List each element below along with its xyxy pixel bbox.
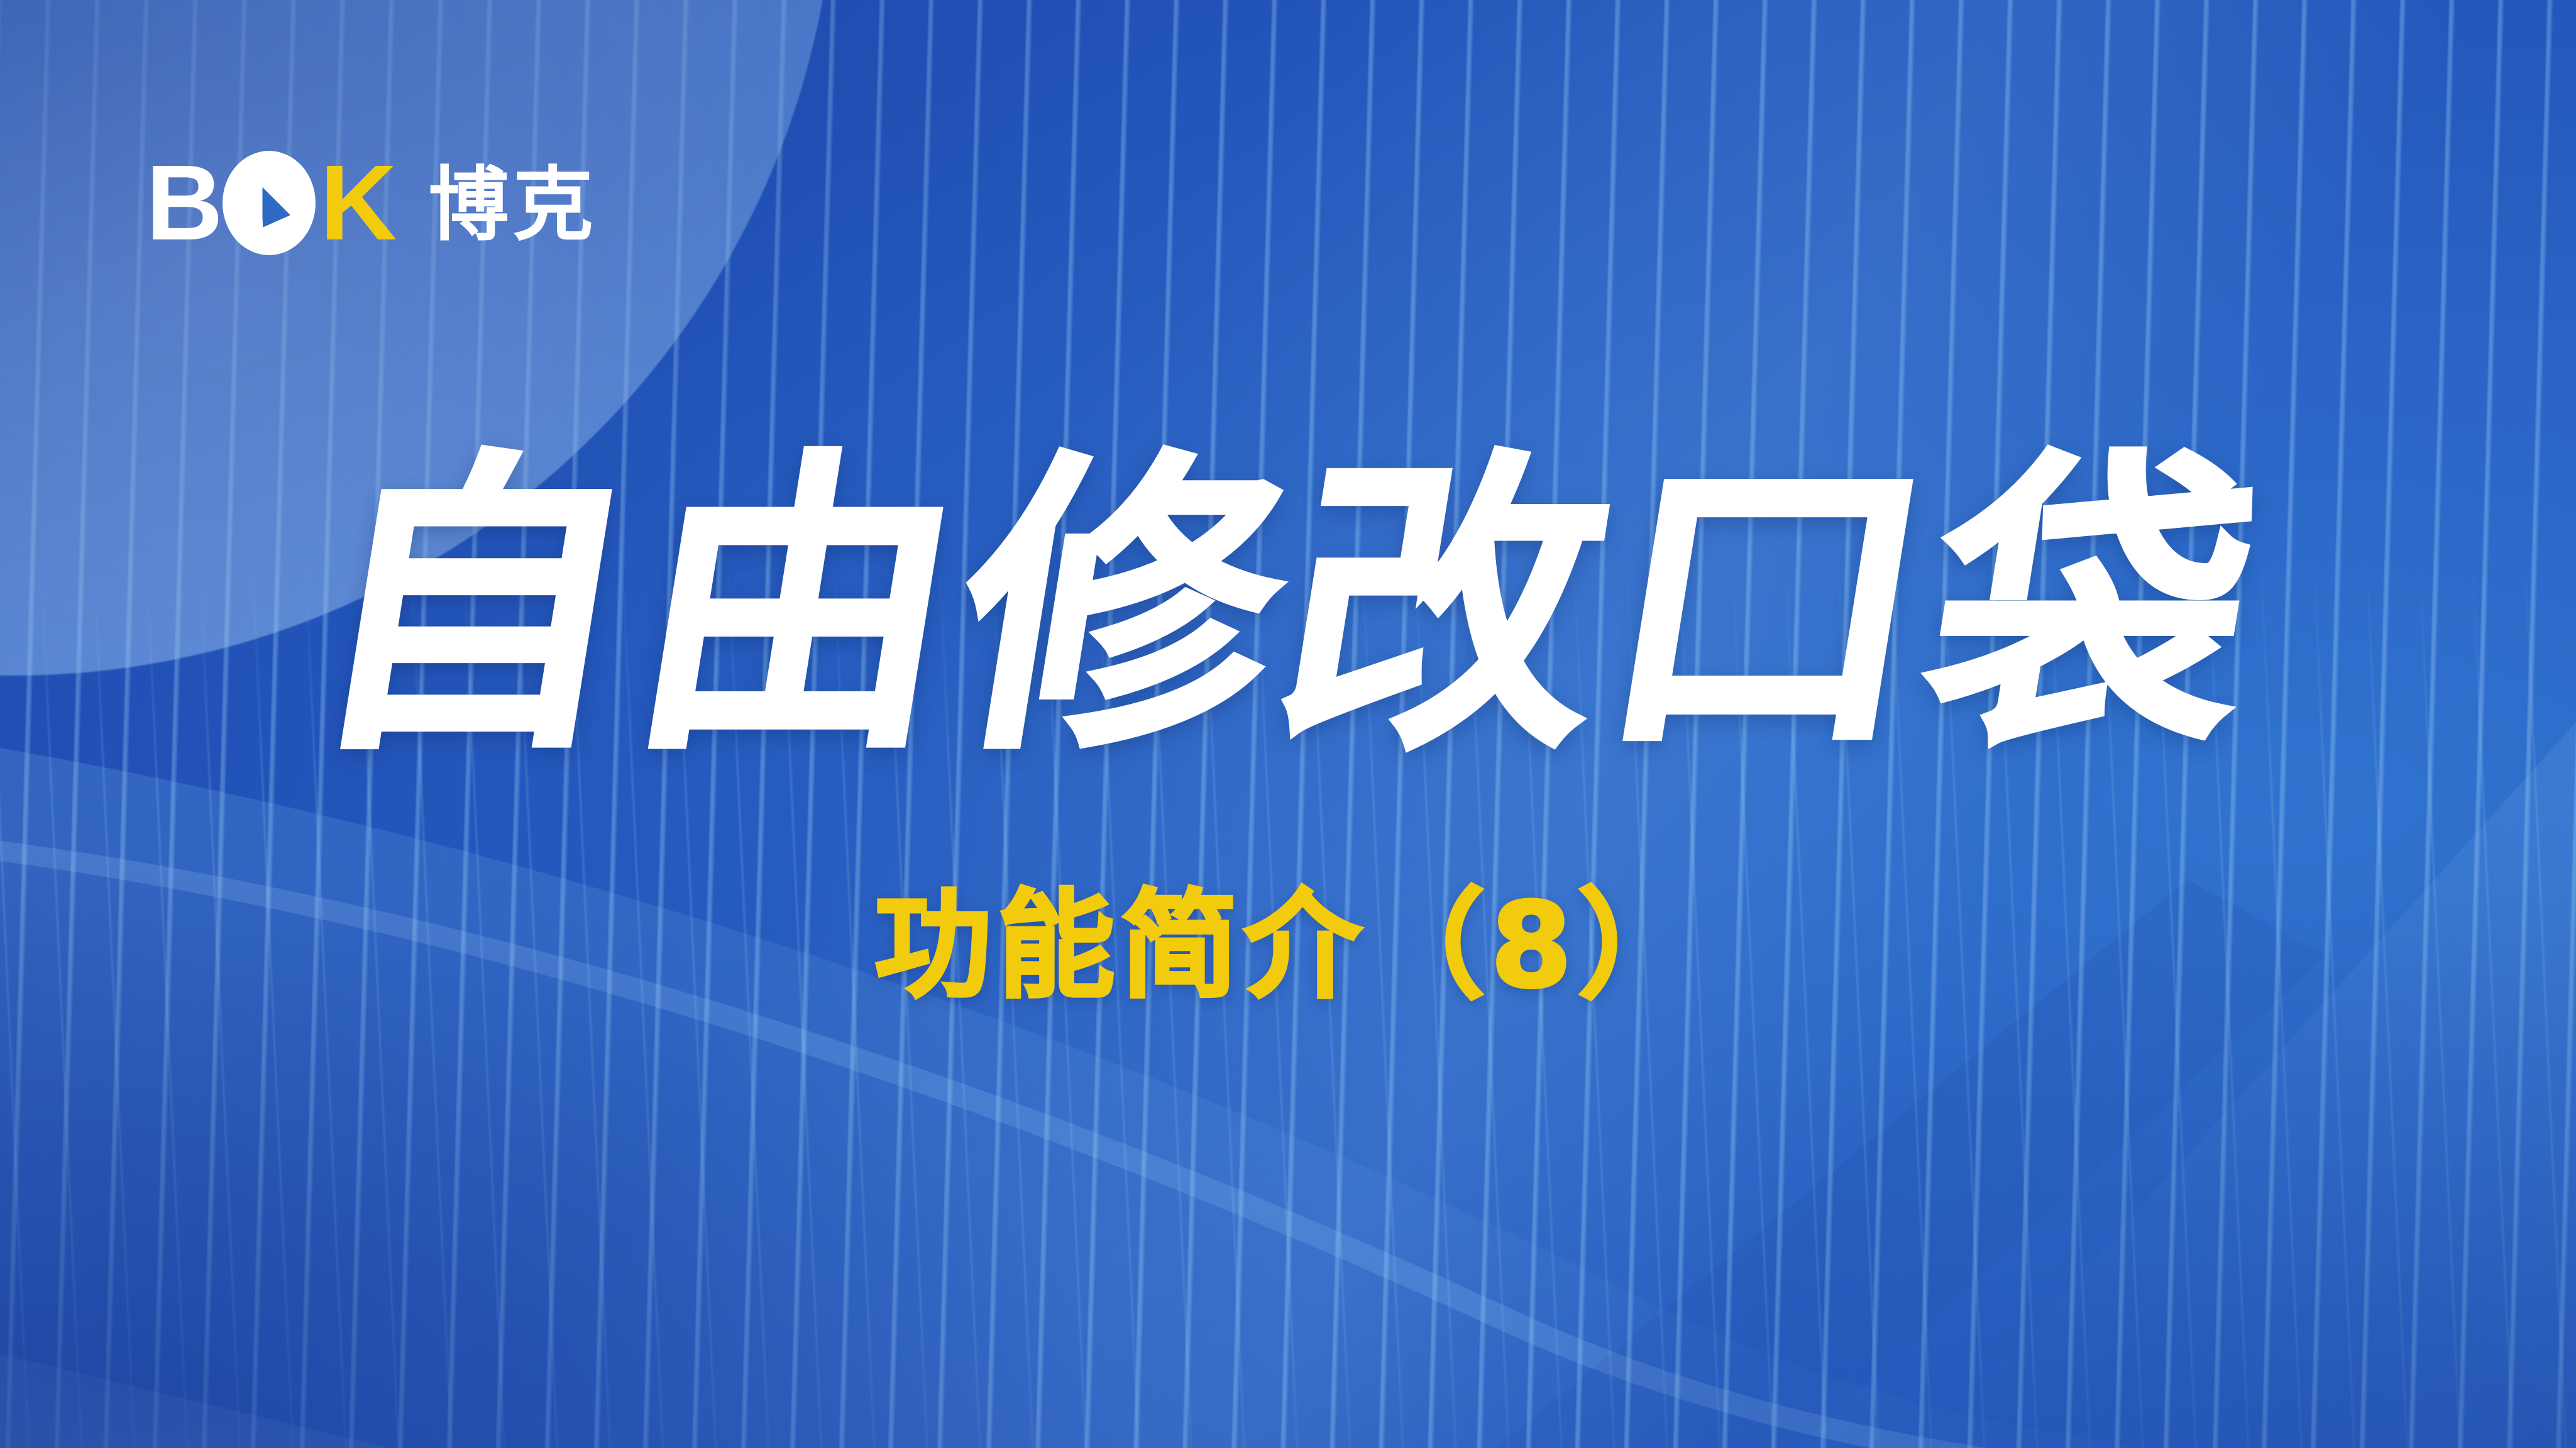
cursor-arrow-in-circle-icon — [222, 150, 316, 256]
brand-letter-k: K — [320, 150, 395, 256]
poster-canvas: B K 博克 自由修改口袋 功能简介（8） — [0, 0, 2576, 1448]
page-title: 自由修改口袋 — [0, 440, 2576, 778]
brand-chinese-name: 博克 — [429, 165, 597, 246]
brand-logo-mark: B K — [146, 150, 395, 256]
page-subtitle: 功能简介（8） — [0, 879, 2576, 1013]
brand-letter-b: B — [146, 150, 221, 256]
brand-logo: B K 博克 — [146, 150, 597, 256]
